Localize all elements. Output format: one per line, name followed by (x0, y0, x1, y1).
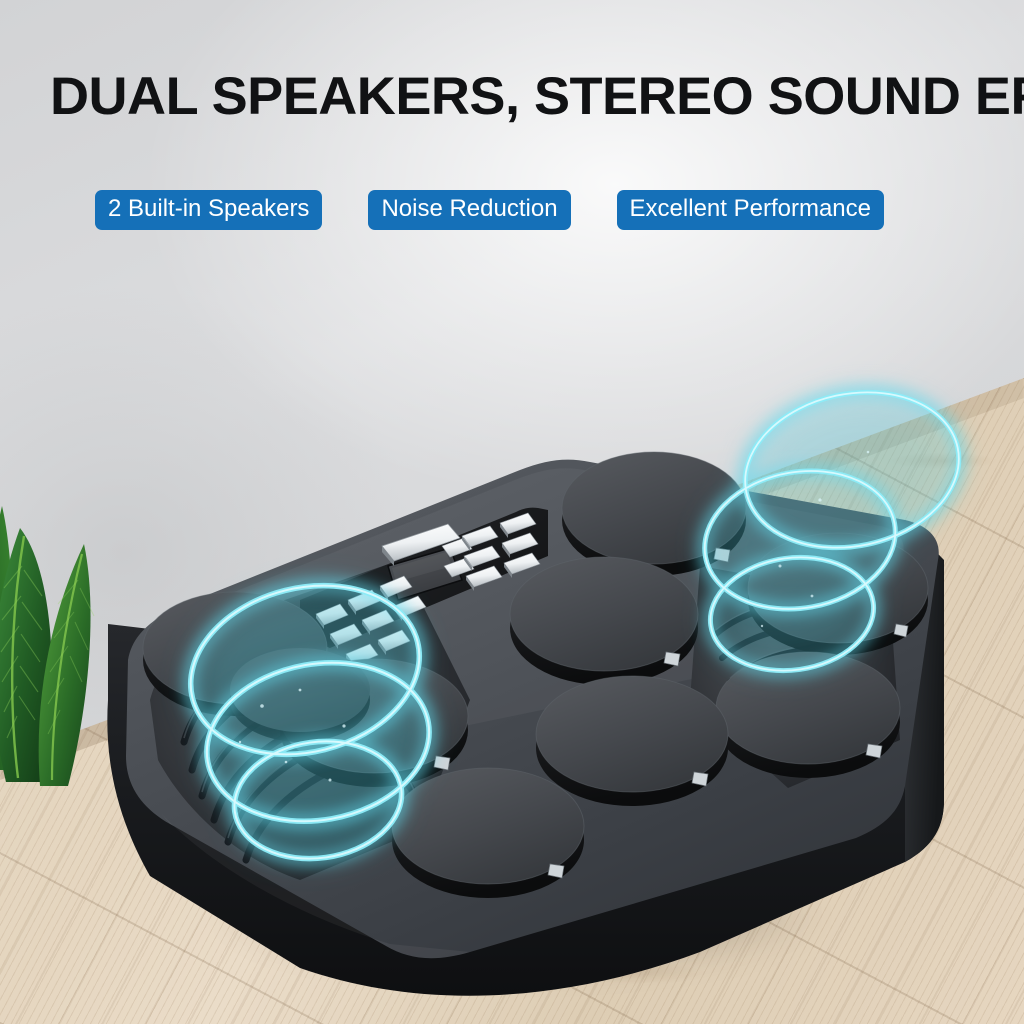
drum-pad (536, 676, 728, 806)
electronic-drum-pad-machine (0, 0, 1024, 1024)
feature-badge-noise-reduction[interactable]: Noise Reduction (368, 190, 570, 230)
drum-pad (230, 648, 370, 742)
product-marketing-banner: DUAL SPEAKERS, STEREO SOUND EFFECT 2 Bui… (0, 0, 1024, 1024)
drum-pad (716, 652, 900, 778)
drum-pad (510, 557, 698, 685)
page-title: DUAL SPEAKERS, STEREO SOUND EFFECT (50, 70, 1009, 123)
drum-pad (392, 768, 584, 898)
drum-pad (748, 533, 928, 655)
feature-badge-speakers[interactable]: 2 Built-in Speakers (95, 190, 322, 230)
feature-badge-performance[interactable]: Excellent Performance (617, 190, 884, 230)
feature-badge-row: 2 Built-in Speakers Noise Reduction Exce… (95, 190, 884, 230)
